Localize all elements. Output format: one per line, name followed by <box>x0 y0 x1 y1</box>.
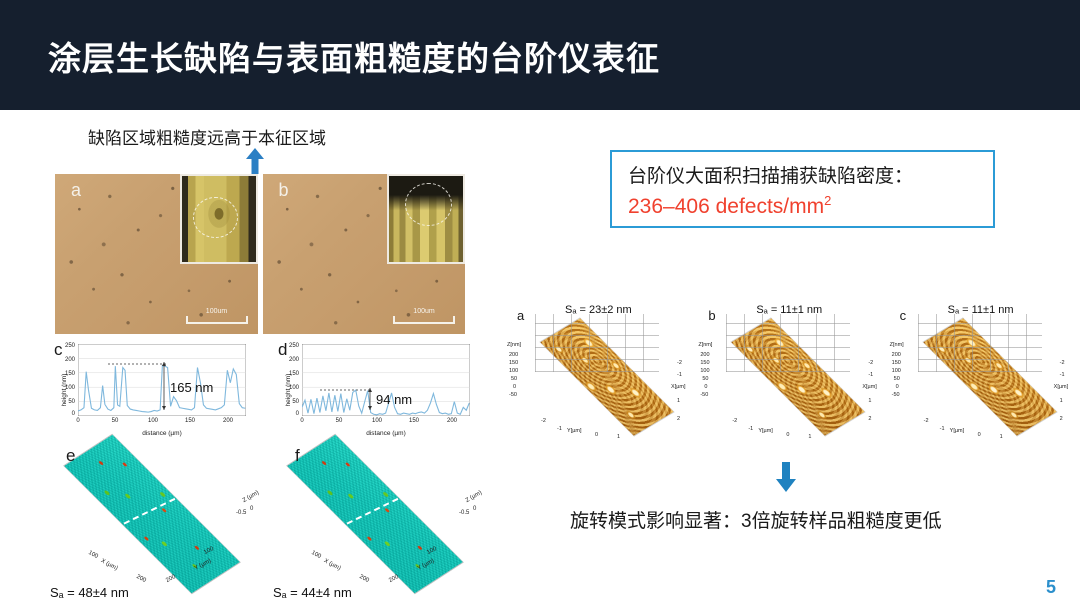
profile-chart-d: height (nm) d 250 200 150 100 5 <box>272 338 478 442</box>
profile-d-xlabel: distance (µm) <box>302 430 470 437</box>
micrograph-panel-a: a 100um <box>55 174 258 334</box>
afm-b-ztick-150: 150 <box>700 360 709 366</box>
micrograph-row: a 100um b 100um <box>55 174 465 334</box>
chamber-photo-inset-b <box>387 174 465 264</box>
afm-b-ztick-50: 50 <box>702 376 708 382</box>
surface-e-ytick-200: 200 <box>165 574 177 584</box>
profile-chart-c: height (nm) c 250 200 150 100 5 <box>48 338 254 442</box>
page-title: 涂层生长缺陷与表面粗糙度的台阶仪表征 <box>48 32 660 80</box>
afm-panel-b: b Sₐ = 11±1 nm Z[nm] 200 150 100 50 0 -5… <box>696 298 883 440</box>
profile-d-xtick-0: 0 <box>300 418 303 424</box>
profile-d-ytick-150: 150 <box>289 371 299 377</box>
profile-c-annotation: 165 nm <box>170 380 213 395</box>
surface-f-xtick-200: 200 <box>358 574 370 584</box>
afm-a-ztick-neg50: -50 <box>509 392 517 398</box>
profile-c-ytick-250: 250 <box>65 343 75 349</box>
afm-c-ytick-neg2: -2 <box>924 418 929 424</box>
afm-a-ztick-150: 150 <box>509 360 518 366</box>
afm-b-ylabel: Y[µm] <box>758 428 772 434</box>
profile-d-xtick-100: 100 <box>372 418 382 424</box>
profile-d-xtick-200: 200 <box>447 418 457 424</box>
micrograph-panel-b: b 100um <box>263 174 466 334</box>
afm-a-ylabel: Y[µm] <box>567 428 581 434</box>
afm-c-ytick-1: 1 <box>1000 434 1003 440</box>
afm-a-ytick-1: 1 <box>617 434 620 440</box>
profile-c-ytick-0: 0 <box>72 411 75 417</box>
scalebar-line-a <box>186 316 248 324</box>
afm-b-ytick-0: 0 <box>786 432 789 438</box>
profile-c-ytick-100: 100 <box>65 385 75 391</box>
afm-a-ytick-neg1: -1 <box>557 426 562 432</box>
afm-a-xtick-neg2: -2 <box>677 360 682 366</box>
afm-a-xtick-2: 2 <box>677 416 680 422</box>
chamber-photo-inset-a <box>180 174 258 264</box>
afm-c-ztick-0: 0 <box>896 384 899 390</box>
profile-c-xlabel: distance (µm) <box>78 430 246 437</box>
afm-c-xtick-1: 1 <box>1060 398 1063 404</box>
profile-c-svg <box>78 344 246 416</box>
profile-c-xtick-150: 150 <box>185 418 195 424</box>
profile-c-plot: 250 200 150 100 50 0 0 50 100 150 200 <box>78 344 246 416</box>
afm-a-label: a <box>517 308 524 323</box>
surface-e-ztick-0: 0 <box>250 506 253 512</box>
scalebar-line-b <box>393 316 455 324</box>
afm-a-xlabel: X[µm] <box>671 384 685 390</box>
surface-plot-row: e X (µm) 100 200 Y (µm) 100 200 Z (µm) 0… <box>44 442 484 602</box>
surface-panel-f: f X (µm) 100 200 Y (µm) 100 200 Z (µm) 0… <box>267 442 484 602</box>
afm-c-ztick-150: 150 <box>892 360 901 366</box>
surface-e-zlabel: Z (µm) <box>242 490 260 504</box>
profile-d-panel-label: d <box>278 340 287 360</box>
surface-e-sa-value: Sₐ = 48±4 nm <box>50 585 129 600</box>
afm-a-ytick-0: 0 <box>595 432 598 438</box>
afm-b-sa-value: Sₐ = 11±1 nm <box>756 304 822 316</box>
afm-a-grid <box>535 314 659 372</box>
afm-c-ztick-neg50: -50 <box>892 392 900 398</box>
afm-b-xtick-neg1: -1 <box>868 372 873 378</box>
micrograph-label-a: a <box>71 180 81 201</box>
afm-b-ztick-100: 100 <box>700 368 709 374</box>
afm-c-label: c <box>900 308 907 323</box>
afm-a-ztick-50: 50 <box>511 376 517 382</box>
micrograph-label-b: b <box>279 180 289 201</box>
profile-c-xtick-50: 50 <box>112 418 119 424</box>
afm-b-xtick-1: 1 <box>868 398 871 404</box>
afm-c-xtick-neg1: -1 <box>1060 372 1065 378</box>
afm-a-ztick-0: 0 <box>513 384 516 390</box>
afm-a-sa-value: Sₐ = 23±2 nm <box>565 304 632 316</box>
afm-b-ztick-200: 200 <box>700 352 709 358</box>
surface-panel-e: e X (µm) 100 200 Y (µm) 100 200 Z (µm) 0… <box>44 442 261 602</box>
afm-a-ztick-200: 200 <box>509 352 518 358</box>
surface-f-label: f <box>295 446 300 466</box>
callout-value-text: 236–406 defects/mm <box>628 195 824 218</box>
callout-heading: 台阶仪大面积扫描捕获缺陷密度： <box>628 161 993 188</box>
afm-b-xlabel: X[µm] <box>862 384 876 390</box>
profile-d-ytick-100: 100 <box>289 385 299 391</box>
bottom-conclusion-caption: 旋转模式影响显著：3倍旋转样品粗糙度更低 <box>570 506 942 533</box>
callout-value: 236–406 defects/mm2 <box>628 193 993 219</box>
profile-d-annotation: 94 nm <box>376 392 412 407</box>
afm-plot-row: a Sₐ = 23±2 nm Z[nm] 200 150 100 50 0 -5… <box>505 298 1075 440</box>
scalebar-label-b: 100um <box>413 308 434 315</box>
afm-panel-a: a Sₐ = 23±2 nm Z[nm] 200 150 100 50 0 -5… <box>505 298 692 440</box>
surface-f-ztick-neg: -0.5 <box>459 510 469 516</box>
afm-a-ytick-neg2: -2 <box>541 418 546 424</box>
surface-f-sa-value: Sₐ = 44±4 nm <box>273 585 352 600</box>
surface-e-label: e <box>66 446 75 466</box>
afm-a-xtick-neg1: -1 <box>677 372 682 378</box>
surface-f-ytick-200: 200 <box>388 574 400 584</box>
surface-f-zlabel: Z (µm) <box>465 490 483 504</box>
afm-b-ztick-0: 0 <box>704 384 707 390</box>
profile-d-ytick-50: 50 <box>292 399 299 405</box>
afm-c-ztick-200: 200 <box>892 352 901 358</box>
surface-e-xtick-200: 200 <box>135 574 147 584</box>
afm-b-ztick-neg50: -50 <box>700 392 708 398</box>
afm-b-xtick-2: 2 <box>868 416 871 422</box>
left-section-caption: 缺陷区域粗糙度远高于本征区域 <box>88 124 326 149</box>
afm-b-zlabel: Z[nm] <box>698 342 712 348</box>
profile-c-ytick-150: 150 <box>65 371 75 377</box>
afm-c-ytick-0: 0 <box>978 432 981 438</box>
surface-f-xtick-100: 100 <box>310 550 322 560</box>
afm-b-grid <box>726 314 850 372</box>
profile-c-panel-label: c <box>54 340 63 360</box>
afm-a-ztick-100: 100 <box>509 368 518 374</box>
surface-f-ztick-0: 0 <box>473 506 476 512</box>
profile-d-ytick-0: 0 <box>296 411 299 417</box>
afm-c-xlabel: X[µm] <box>1054 384 1068 390</box>
afm-c-ytick-neg1: -1 <box>940 426 945 432</box>
surface-e-ztick-neg: -0.5 <box>236 510 246 516</box>
callout-value-exponent: 2 <box>824 193 831 208</box>
scalebar-b: 100um <box>393 308 455 324</box>
scalebar-label-a: 100um <box>206 308 227 315</box>
profile-c-xtick-200: 200 <box>223 418 233 424</box>
afm-b-label: b <box>708 308 715 323</box>
afm-c-ztick-50: 50 <box>894 376 900 382</box>
afm-c-xtick-neg2: -2 <box>1060 360 1065 366</box>
afm-c-grid <box>918 314 1042 372</box>
scalebar-a: 100um <box>186 308 248 324</box>
afm-c-zlabel: Z[nm] <box>890 342 904 348</box>
profile-d-xtick-50: 50 <box>336 418 343 424</box>
afm-c-xtick-2: 2 <box>1060 416 1063 422</box>
afm-a-zlabel: Z[nm] <box>507 342 521 348</box>
surface-e-xlabel: X (µm) <box>100 558 119 572</box>
surface-e-plate <box>64 435 239 594</box>
slide-header-bar: 涂层生长缺陷与表面粗糙度的台阶仪表征 <box>0 0 1080 110</box>
profile-c-ytick-50: 50 <box>68 399 75 405</box>
afm-a-xtick-1: 1 <box>677 398 680 404</box>
afm-b-ytick-1: 1 <box>808 434 811 440</box>
profile-chart-row: height (nm) c 250 200 150 100 5 <box>48 338 478 442</box>
page-number: 5 <box>1046 577 1056 598</box>
afm-b-xtick-neg2: -2 <box>868 360 873 366</box>
arrow-up-icon <box>245 148 265 174</box>
profile-c-xtick-0: 0 <box>76 418 79 424</box>
surface-e-xtick-100: 100 <box>87 550 99 560</box>
profile-c-xtick-100: 100 <box>148 418 158 424</box>
afm-c-ztick-100: 100 <box>892 368 901 374</box>
afm-b-ytick-neg1: -1 <box>748 426 753 432</box>
defect-density-callout-box: 台阶仪大面积扫描捕获缺陷密度： 236–406 defects/mm2 <box>610 150 995 228</box>
profile-d-ytick-200: 200 <box>289 357 299 363</box>
surface-f-xlabel: X (µm) <box>323 558 342 572</box>
afm-c-ylabel: Y[µm] <box>950 428 964 434</box>
profile-c-ytick-200: 200 <box>65 357 75 363</box>
afm-b-ytick-neg2: -2 <box>732 418 737 424</box>
profile-d-xtick-150: 150 <box>409 418 419 424</box>
surface-f-plate <box>287 435 462 594</box>
arrow-down-icon <box>775 462 797 492</box>
afm-c-sa-value: Sₐ = 11±1 nm <box>948 304 1014 316</box>
profile-d-ytick-250: 250 <box>289 343 299 349</box>
afm-panel-c: c Sₐ = 11±1 nm Z[nm] 200 150 100 50 0 -5… <box>888 298 1075 440</box>
